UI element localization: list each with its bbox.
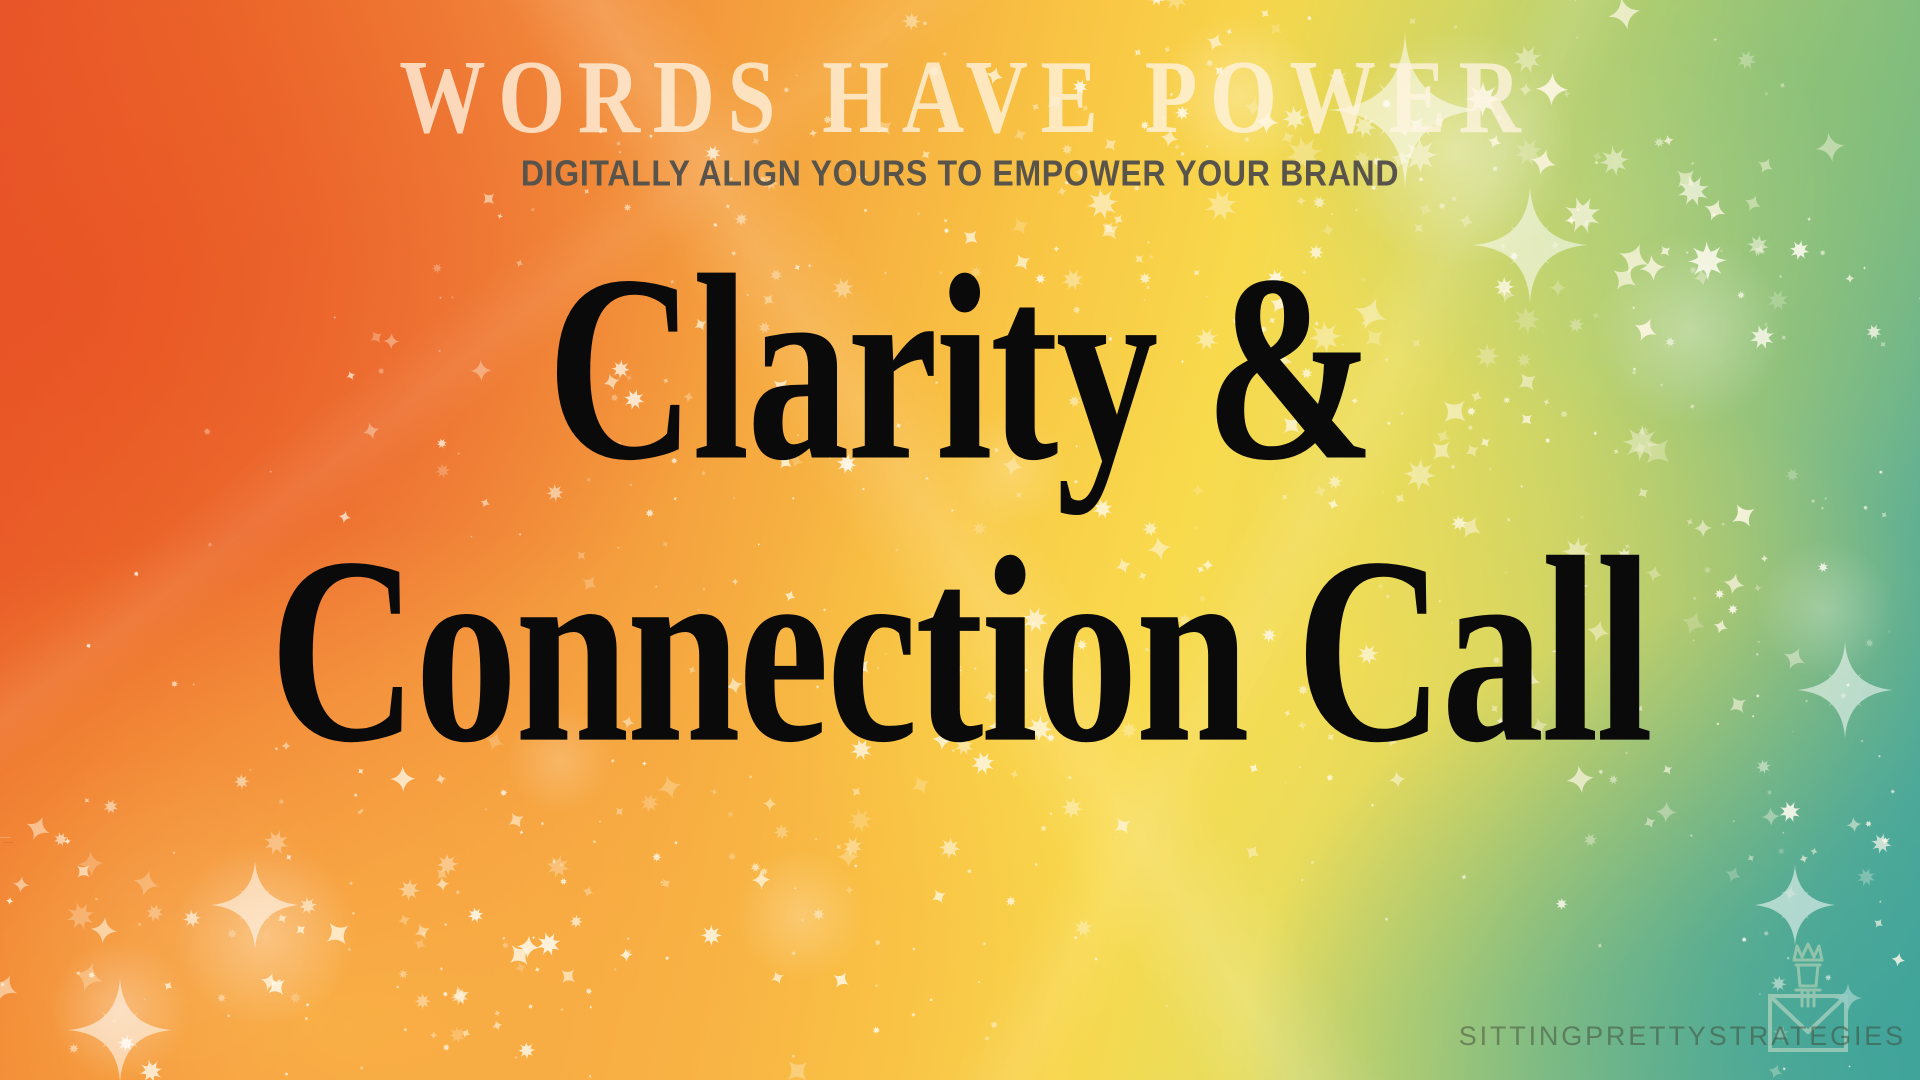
tagline-text: DIGITALLY ALIGN YOURS TO EMPOWER YOUR BR… [521,155,1399,191]
headline-line-2: Connection Call [269,525,1650,778]
headline: Clarity & Connection Call [269,243,1650,778]
eyebrow-text: WORDS HAVE POWER [387,46,1534,151]
title-card-canvas: WORDS HAVE POWER DIGITALLY ALIGN YOURS T… [0,0,1920,1080]
headline-line-1: Clarity & [547,221,1373,516]
text-stack: WORDS HAVE POWER DIGITALLY ALIGN YOURS T… [0,0,1920,1080]
